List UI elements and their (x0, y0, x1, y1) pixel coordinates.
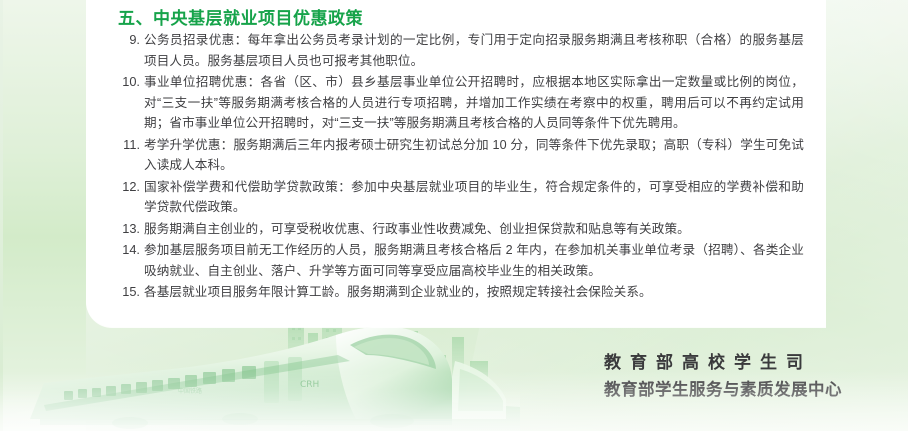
list-item-text: 各基层就业项目服务年限计算工龄。服务期满到企业就业的，按照规定转接社会保险关系。 (144, 282, 804, 303)
list-item-number: 14. (114, 240, 144, 261)
list-item: 9. 公务员招录优惠：每年拿出公务员考录计划的一定比例，专门用于定向招录服务期满… (114, 30, 804, 71)
left-band-edge (0, 0, 3, 431)
list-item-text: 国家补偿学费和代偿助学贷款政策：参加中央基层就业项目的毕业生，符合规定条件的，可… (144, 177, 804, 218)
list-item-text: 考学升学优惠：服务期满后三年内报考硕士研究生初试总分加 10 分，同等条件下优先… (144, 135, 804, 176)
list-item-number: 12. (114, 177, 144, 198)
train-icon: CRH 中国铁路 (30, 326, 506, 429)
list-item-number: 15. (114, 282, 144, 303)
organization-name-primary: 教育部高校学生司 (604, 348, 842, 373)
list-item-number: 10. (114, 72, 144, 93)
list-item-text: 服务期满自主创业的，可享受税收优惠、行政事业性收费减免、创业担保贷款和贴息等有关… (144, 219, 804, 240)
list-item: 14. 参加基层服务项目前无工作经历的人员，服务期满且考核合格后 2 年内，在参… (114, 240, 804, 281)
list-item-number: 11. (114, 135, 144, 156)
list-item: 10. 事业单位招聘优惠：各省（区、市）县乡基层事业单位公开招聘时，应根据本地区… (114, 72, 804, 134)
list-item-number: 13. (114, 219, 144, 240)
organization-name-secondary: 教育部学生服务与素质发展中心 (604, 376, 842, 400)
list-item: 12. 国家补偿学费和代偿助学贷款政策：参加中央基层就业项目的毕业生，符合规定条… (114, 177, 804, 218)
list-item-text: 参加基层服务项目前无工作经历的人员，服务期满且考核合格后 2 年内，在参加机关事… (144, 240, 804, 281)
svg-text:CRH: CRH (300, 380, 319, 390)
list-item-number: 9. (114, 30, 144, 51)
list-item-text: 公务员招录优惠：每年拿出公务员考录计划的一定比例，专门用于定向招录服务期满且考核… (144, 30, 804, 71)
section-heading: 五、中央基层就业项目优惠政策 (118, 4, 363, 29)
content-card: 五、中央基层就业项目优惠政策 9. 公务员招录优惠：每年拿出公务员考录计划的一定… (86, 0, 826, 327)
list-item: 11. 考学升学优惠：服务期满后三年内报考硕士研究生初试总分加 10 分，同等条… (114, 135, 804, 176)
left-green-band (0, 0, 86, 431)
policy-list: 9. 公务员招录优惠：每年拿出公务员考录计划的一定比例，专门用于定向招录服务期满… (114, 30, 804, 304)
list-item-text: 事业单位招聘优惠：各省（区、市）县乡基层事业单位公开招聘时，应根据本地区实际拿出… (144, 72, 804, 134)
list-item: 15. 各基层就业项目服务年限计算工龄。服务期满到企业就业的，按照规定转接社会保… (114, 282, 804, 303)
list-item: 13. 服务期满自主创业的，可享受税收优惠、行政事业性收费减免、创业担保贷款和贴… (114, 219, 804, 240)
poster-page: CRH 中国铁路 五、中央基层就业项目优惠政策 9. 公务员招录优惠：每年拿出公… (0, 0, 908, 431)
svg-text:中国铁路: 中国铁路 (178, 387, 202, 395)
footer-signature: 教育部高校学生司 教育部学生服务与素质发展中心 (604, 348, 842, 400)
